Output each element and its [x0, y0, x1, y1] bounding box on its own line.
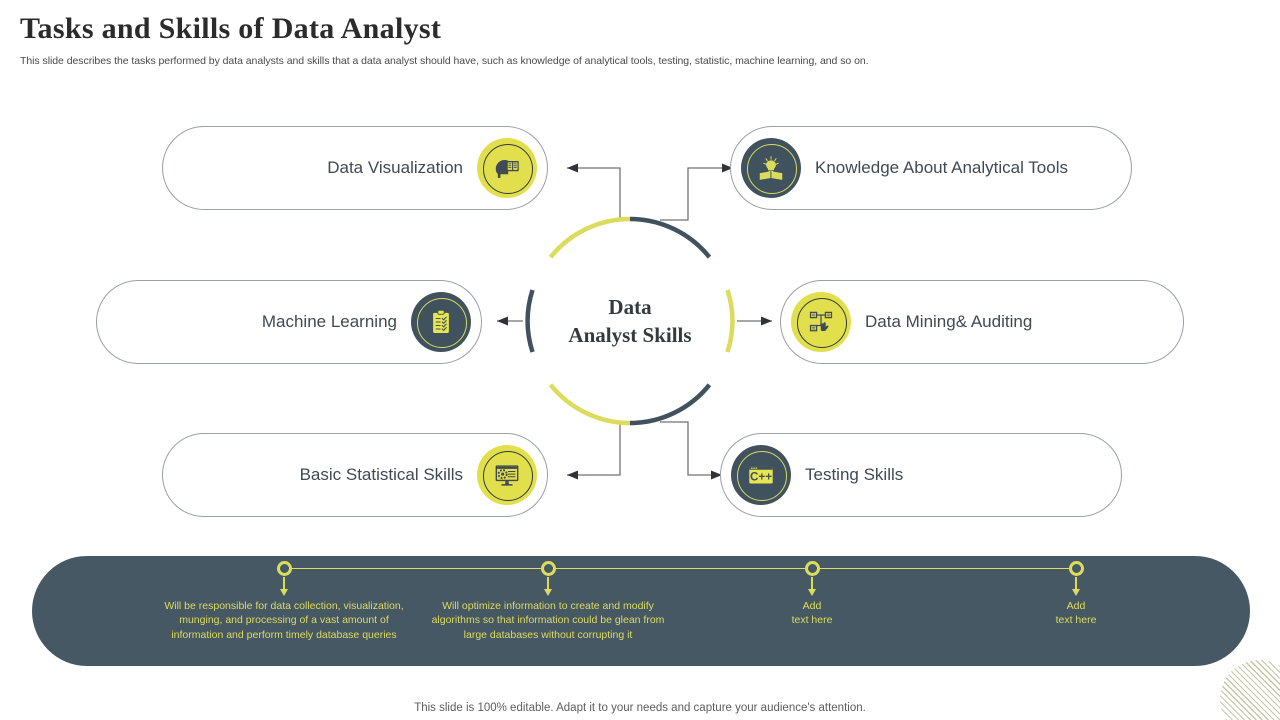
node-label: Data Mining& Auditing [865, 312, 1032, 332]
timeline-axis [284, 568, 1076, 569]
node-label: Machine Learning [262, 312, 397, 332]
bulb-book-icon [741, 138, 801, 198]
node-label: Data Visualization [327, 158, 463, 178]
node-testing-skills[interactable]: C++ Testing Skills [720, 433, 1122, 517]
head-book-icon [477, 138, 537, 198]
timeline-text: Add text here [687, 599, 937, 628]
node-label: Testing Skills [805, 465, 903, 485]
timeline-text: Will optimize information to create and … [423, 599, 673, 642]
network-hand-icon [791, 292, 851, 352]
timeline-dot-icon [277, 561, 292, 576]
node-basic-statistics[interactable]: Basic Statistical Skills [162, 433, 548, 517]
timeline-dot-icon [541, 561, 556, 576]
node-data-mining[interactable]: Data Mining& Auditing [780, 280, 1184, 364]
clipboard-icon [411, 292, 471, 352]
hatch-circle-icon [1220, 660, 1280, 720]
monitor-gear-icon [477, 445, 537, 505]
cpp-code-icon: C++ [731, 445, 791, 505]
timeline-arrow-icon [808, 589, 816, 596]
timeline-text: Will be responsible for data collection,… [159, 599, 409, 642]
center-label-line1: Data [608, 293, 651, 321]
timeline-arrow-icon [280, 589, 288, 596]
page-subtitle: This slide describes the tasks performed… [20, 55, 869, 67]
timeline-dot-icon [805, 561, 820, 576]
node-machine-learning[interactable]: Machine Learning [96, 280, 482, 364]
timeline-dot-icon [1069, 561, 1084, 576]
timeline-text: Add text here [951, 599, 1201, 628]
node-label: Knowledge About Analytical Tools [815, 158, 1068, 178]
timeline-arrow-icon [544, 589, 552, 596]
center-label-line2: Analyst Skills [568, 321, 691, 349]
node-label: Basic Statistical Skills [300, 465, 463, 485]
slide-canvas: Tasks and Skills of Data Analyst This sl… [0, 0, 1280, 720]
node-data-visualization[interactable]: Data Visualization [162, 126, 548, 210]
center-label: Data Analyst Skills [523, 214, 737, 428]
timeline-arrow-icon [1072, 589, 1080, 596]
page-title: Tasks and Skills of Data Analyst [20, 12, 441, 46]
corner-hatch-decoration [1218, 658, 1280, 720]
footer-note: This slide is 100% editable. Adapt it to… [0, 702, 1280, 714]
node-knowledge-tools[interactable]: Knowledge About Analytical Tools [730, 126, 1132, 210]
svg-text:C++: C++ [750, 470, 772, 483]
